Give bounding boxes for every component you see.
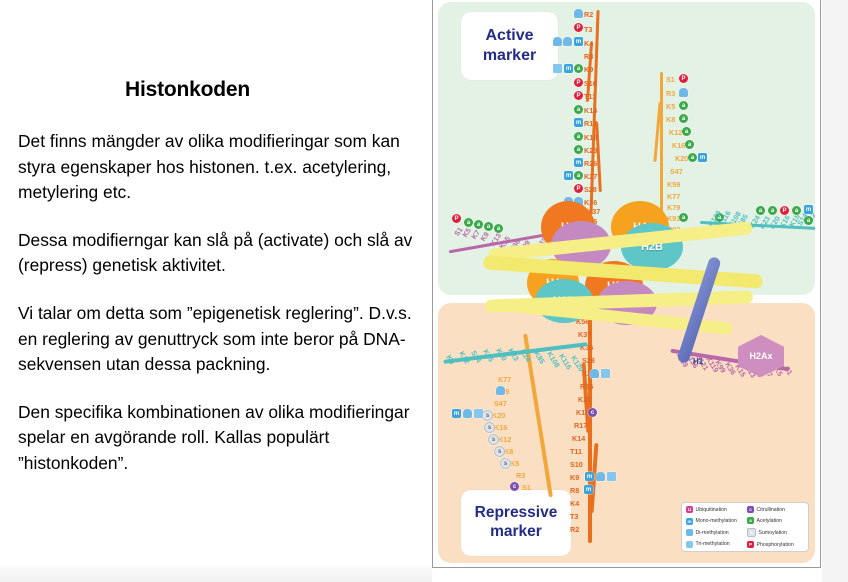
residue-label: R8 bbox=[584, 52, 593, 61]
phosphorylation-icon: P bbox=[780, 206, 789, 215]
legend-column-right: c Citrullination a Acetylation s Sumoyla… bbox=[747, 506, 804, 548]
sumoylation-icon: s bbox=[500, 458, 511, 469]
legend-label: Sumoylation bbox=[759, 530, 788, 536]
mono-methylation-icon: m bbox=[564, 171, 573, 180]
mono-methylation-icon: m bbox=[574, 118, 583, 127]
bottom-band bbox=[0, 566, 432, 582]
mono-methylation-icon: m bbox=[804, 205, 813, 214]
acetylation-icon: a bbox=[679, 114, 688, 123]
paragraph-4: Den specifika kombinationen av olika mod… bbox=[18, 400, 430, 477]
acetylation-icon: a bbox=[688, 153, 697, 162]
residue-label: K16 bbox=[672, 141, 685, 150]
mono-methylation-icon: m bbox=[574, 37, 583, 46]
residue-label: K37 bbox=[578, 330, 591, 339]
residue-label: K16 bbox=[494, 423, 507, 432]
sumoylation-icon: s bbox=[747, 528, 756, 537]
mono-methylation-icon: m bbox=[686, 518, 693, 525]
legend-item-citrullination: c Citrullination bbox=[747, 506, 804, 513]
acetylation-icon: a bbox=[574, 132, 583, 141]
mono-methylation-icon: m bbox=[574, 158, 583, 167]
residue-label: S1 bbox=[522, 483, 531, 492]
residue-label: R17 bbox=[584, 119, 597, 128]
di-methylation-icon bbox=[596, 472, 605, 481]
ubiquitination-icon: U bbox=[686, 506, 693, 513]
residue-label: K20 bbox=[494, 347, 509, 363]
nucleosome-core: H3 H4 H2A H2B H4 H3 H2B H2A bbox=[493, 199, 763, 319]
acetylation-icon: a bbox=[685, 140, 694, 149]
residue-label: R3 bbox=[516, 471, 525, 480]
sumoylation-icon: s bbox=[488, 434, 499, 445]
acetylation-icon: a bbox=[574, 145, 583, 154]
residue-label: K5 bbox=[444, 353, 457, 366]
legend-column-left: U Ubiquitination m Mono-methylation Di-m… bbox=[686, 506, 743, 548]
repressive-marker-label-line2: marker bbox=[490, 523, 542, 540]
histone-code-figure: Active marker R2 T3 K4 R8 K9 S10 T11 K14… bbox=[432, 0, 821, 568]
residue-label: K18 bbox=[584, 133, 597, 142]
phosphorylation-icon: P bbox=[574, 91, 583, 100]
residue-label: K14 bbox=[584, 106, 597, 115]
residue-label: K77 bbox=[498, 375, 511, 384]
residue-label: K5 bbox=[510, 459, 519, 468]
legend-item-acetylation: a Acetylation bbox=[747, 517, 804, 524]
sumoylation-icon: s bbox=[484, 422, 495, 433]
tri-methylation-icon bbox=[607, 472, 616, 481]
residue-label: K12 bbox=[498, 435, 511, 444]
legend-item-di-methylation: Di-methylation bbox=[686, 529, 743, 536]
acetylation-icon: a bbox=[574, 64, 583, 73]
acetylation-icon: a bbox=[792, 206, 801, 215]
legend-label: Ubiquitination bbox=[696, 507, 727, 513]
di-methylation-icon bbox=[563, 37, 572, 46]
body-text: Det finns mängder av olika modifieringar… bbox=[18, 129, 430, 477]
phosphorylation-icon: P bbox=[679, 74, 688, 83]
citrullination-icon: c bbox=[510, 482, 519, 491]
di-methylation-icon bbox=[686, 529, 693, 536]
residue-label: K23 bbox=[584, 146, 597, 155]
legend-label: Tri-methylation bbox=[696, 541, 730, 547]
text-column: Histonkoden Det finns mängder av olika m… bbox=[0, 0, 432, 582]
residue-label: K9 bbox=[584, 65, 593, 74]
paragraph-1: Det finns mängder av olika modifieringar… bbox=[18, 129, 430, 206]
repressive-marker-label-line1: Repressive bbox=[475, 504, 558, 521]
residue-label: R3 bbox=[666, 89, 675, 98]
residue-label: R8 bbox=[570, 486, 579, 495]
residue-label: K20 bbox=[492, 411, 505, 420]
acetylation-icon: a bbox=[464, 218, 473, 227]
legend-item-ubiquitination: U Ubiquitination bbox=[686, 506, 743, 513]
tri-methylation-icon bbox=[474, 409, 483, 418]
di-methylation-icon bbox=[463, 409, 472, 418]
legend-label: Phosphorylation bbox=[757, 542, 794, 548]
acetylation-icon: a bbox=[484, 222, 493, 231]
di-methylation-icon bbox=[679, 88, 688, 97]
legend-item-tri-methylation: Tri-methylation bbox=[686, 541, 743, 548]
residue-label: K8 bbox=[666, 115, 675, 124]
tri-methylation-icon bbox=[553, 64, 562, 73]
acetylation-icon: a bbox=[574, 105, 583, 114]
legend-label: Di-methylation bbox=[696, 530, 729, 536]
residue-label: K27 bbox=[584, 172, 597, 181]
active-marker-label-line1: Active bbox=[485, 27, 533, 44]
citrullination-icon: c bbox=[588, 408, 597, 417]
mono-methylation-icon: m bbox=[564, 64, 573, 73]
residue-label: K59 bbox=[667, 180, 680, 189]
residue-label: T3 bbox=[584, 25, 592, 34]
residue-label: R2 bbox=[584, 10, 593, 19]
paragraph-3: Vi talar om detta som ”epigenetisk regle… bbox=[18, 301, 430, 378]
active-marker-label-line2: marker bbox=[483, 47, 536, 64]
sumoylation-icon: s bbox=[482, 410, 493, 421]
residue-label: S10 bbox=[584, 79, 597, 88]
acetylation-icon: a bbox=[747, 517, 754, 524]
residue-label: K9 bbox=[570, 473, 579, 482]
residue-label: R26 bbox=[580, 382, 593, 391]
legend-label: Acetylation bbox=[757, 518, 782, 524]
legend-item-mono-methylation: m Mono-methylation bbox=[686, 518, 743, 525]
acetylation-icon: a bbox=[679, 101, 688, 110]
legend-item-phosphorylation: P Phosphorylation bbox=[747, 541, 804, 548]
repressive-marker-panel: Repressive marker R2 T3 K4 R8 K9 S10 T11… bbox=[438, 303, 815, 563]
di-methylation-icon bbox=[553, 37, 562, 46]
residue-label: K15 bbox=[481, 348, 496, 364]
legend-label: Mono-methylation bbox=[696, 518, 737, 524]
acetylation-icon: a bbox=[804, 216, 813, 225]
mono-methylation-icon: m bbox=[585, 472, 594, 481]
residue-label: T11 bbox=[570, 447, 582, 456]
residue-label: K8 bbox=[504, 447, 513, 456]
acetylation-icon: a bbox=[474, 220, 483, 229]
phosphorylation-icon: P bbox=[452, 214, 461, 223]
phosphorylation-icon: P bbox=[574, 184, 583, 193]
residue-label: K4 bbox=[584, 39, 593, 48]
di-methylation-icon bbox=[574, 9, 583, 18]
residue-label: S28 bbox=[582, 356, 595, 365]
mono-methylation-icon: m bbox=[452, 409, 461, 418]
residue-label: R26 bbox=[584, 159, 597, 168]
page-title: Histonkoden bbox=[0, 78, 375, 102]
active-marker-badge: Active marker bbox=[461, 12, 558, 80]
slide-root: Histonkoden Det finns mängder av olika m… bbox=[0, 0, 848, 582]
phosphorylation-icon: P bbox=[747, 541, 754, 548]
residue-label: S28 bbox=[584, 185, 597, 194]
mono-methylation-icon: m bbox=[584, 485, 593, 494]
residue-label: T11 bbox=[584, 92, 596, 101]
h1-label: H1 bbox=[693, 357, 703, 366]
acetylation-icon: a bbox=[682, 127, 691, 136]
citrullination-icon: c bbox=[747, 506, 754, 513]
tri-methylation-icon bbox=[686, 541, 693, 548]
residue-label: R2 bbox=[570, 525, 579, 534]
repressive-marker-badge: Repressive marker bbox=[461, 490, 571, 556]
paragraph-2: Dessa modifierngar kan slå på (activate)… bbox=[18, 228, 430, 279]
tri-methylation-icon bbox=[601, 369, 610, 378]
mono-methylation-icon: m bbox=[698, 153, 707, 162]
residue-label: K4 bbox=[570, 499, 579, 508]
right-gutter bbox=[822, 0, 848, 582]
sumoylation-icon: s bbox=[494, 446, 505, 457]
legend-label: Citrullination bbox=[757, 507, 786, 513]
residue-label: K23 bbox=[578, 395, 591, 404]
di-methylation-icon bbox=[590, 369, 599, 378]
residue-label: K14 bbox=[572, 434, 585, 443]
residue-label: R17 bbox=[574, 421, 587, 430]
residue-label: S10 bbox=[570, 460, 583, 469]
acetylation-icon: a bbox=[574, 171, 583, 180]
residue-label: K12 bbox=[669, 128, 682, 137]
di-methylation-icon bbox=[496, 386, 505, 395]
phosphorylation-icon: P bbox=[574, 78, 583, 87]
legend: U Ubiquitination m Mono-methylation Di-m… bbox=[681, 502, 809, 552]
phosphorylation-icon: P bbox=[574, 23, 583, 32]
residue-label: S1 bbox=[666, 75, 675, 84]
acetylation-icon: a bbox=[768, 206, 777, 215]
residue-label: S47 bbox=[670, 167, 683, 176]
residue-label: T3 bbox=[570, 512, 578, 521]
residue-label: S47 bbox=[494, 399, 507, 408]
legend-item-sumoylation: s Sumoylation bbox=[747, 528, 804, 537]
residue-label: K20 bbox=[675, 154, 688, 163]
residue-label: K85 bbox=[532, 350, 547, 366]
residue-label: K5 bbox=[666, 102, 675, 111]
